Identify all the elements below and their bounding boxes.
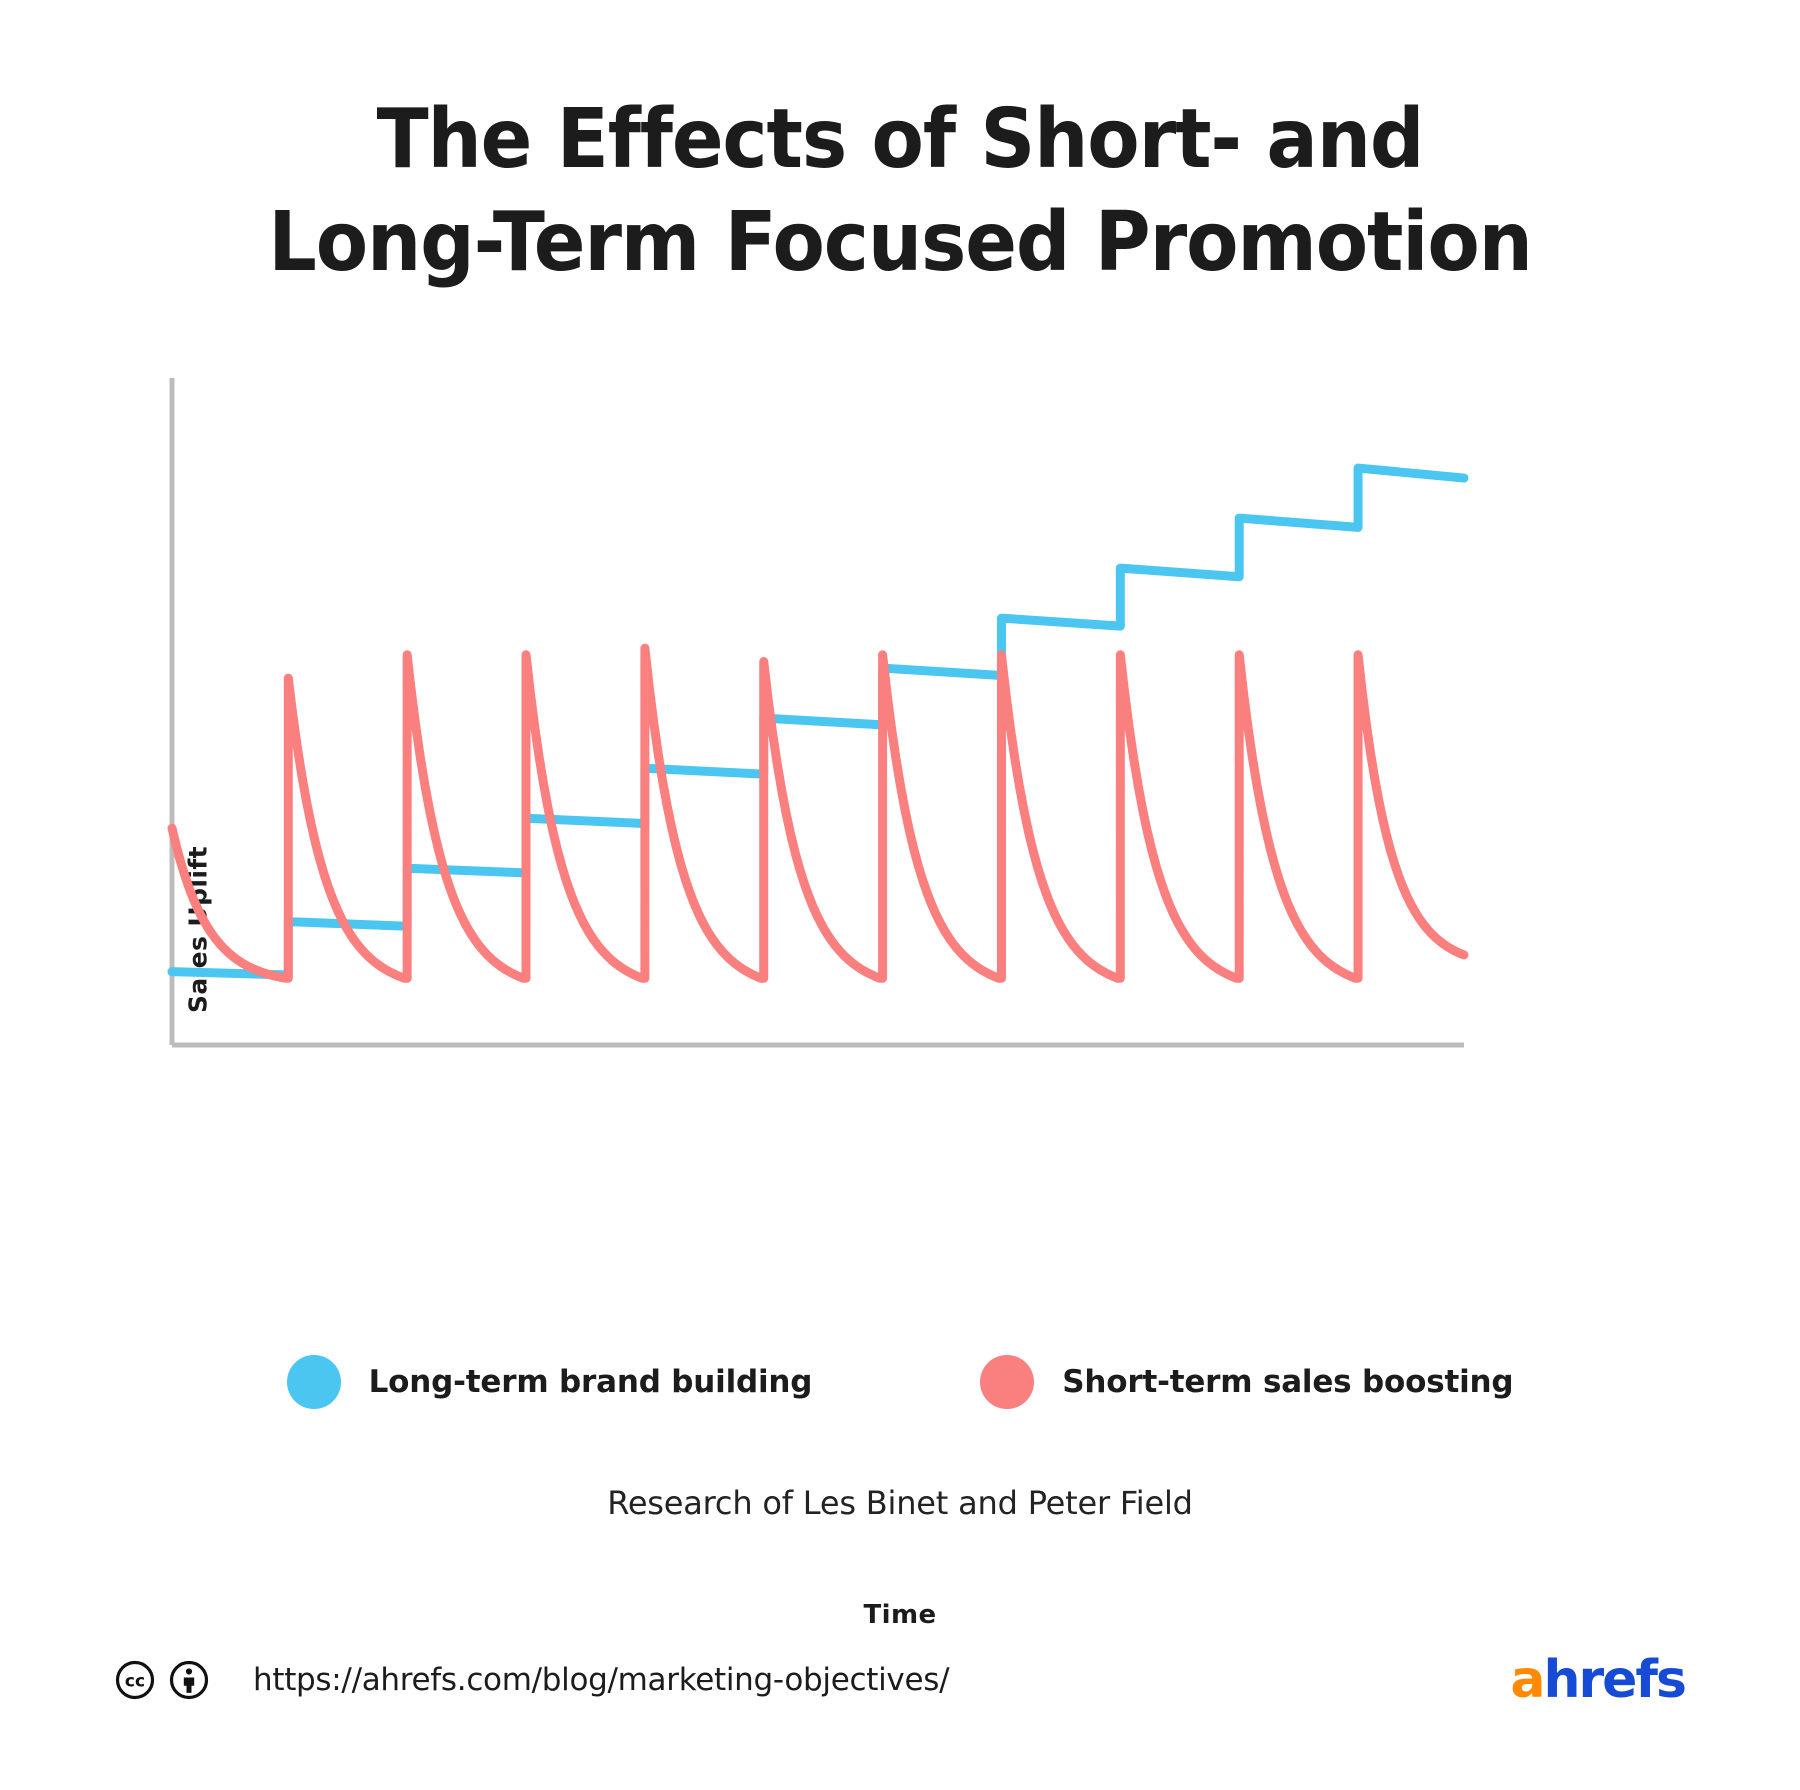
creative-commons-by-icon xyxy=(169,1660,209,1700)
legend-label-long-term: Long-term brand building xyxy=(369,1364,813,1400)
page-title: The Effects of Short- and Long-Term Focu… xyxy=(0,88,1800,295)
ahrefs-logo: a hrefs xyxy=(1510,1650,1685,1710)
chart-plot xyxy=(0,355,1800,1075)
legend-item-long-term: Long-term brand building xyxy=(287,1355,813,1409)
ahrefs-logo-a: a xyxy=(1510,1650,1543,1710)
title-line-1: The Effects of Short- and xyxy=(165,88,1634,191)
creative-commons-icon: cc xyxy=(115,1660,155,1700)
series-long-term-brand-building xyxy=(172,468,1464,975)
legend-item-short-term: Short-term sales boosting xyxy=(980,1355,1513,1409)
chart-legend: Long-term brand building Short-term sale… xyxy=(0,1355,1800,1409)
x-axis-label: Time xyxy=(0,1600,1800,1630)
infographic-page: The Effects of Short- and Long-Term Focu… xyxy=(0,0,1800,1790)
svg-text:cc: cc xyxy=(125,1672,145,1692)
license-icons: cc xyxy=(115,1660,209,1700)
ahrefs-logo-text: hrefs xyxy=(1543,1650,1685,1710)
footer-left-group: cc https://ahrefs.com/blog/marketing-obj… xyxy=(115,1660,949,1700)
source-url[interactable]: https://ahrefs.com/blog/marketing-object… xyxy=(253,1662,949,1698)
legend-dot-icon-blue xyxy=(287,1355,341,1409)
chart-container: Sales Uplift Time xyxy=(0,355,1800,1145)
source-attribution: Research of Les Binet and Peter Field xyxy=(0,1484,1800,1522)
footer-bar: cc https://ahrefs.com/blog/marketing-obj… xyxy=(0,1640,1800,1720)
legend-label-short-term: Short-term sales boosting xyxy=(1062,1364,1513,1400)
title-line-2: Long-Term Focused Promotion xyxy=(165,191,1634,294)
legend-dot-icon-red xyxy=(980,1355,1034,1409)
